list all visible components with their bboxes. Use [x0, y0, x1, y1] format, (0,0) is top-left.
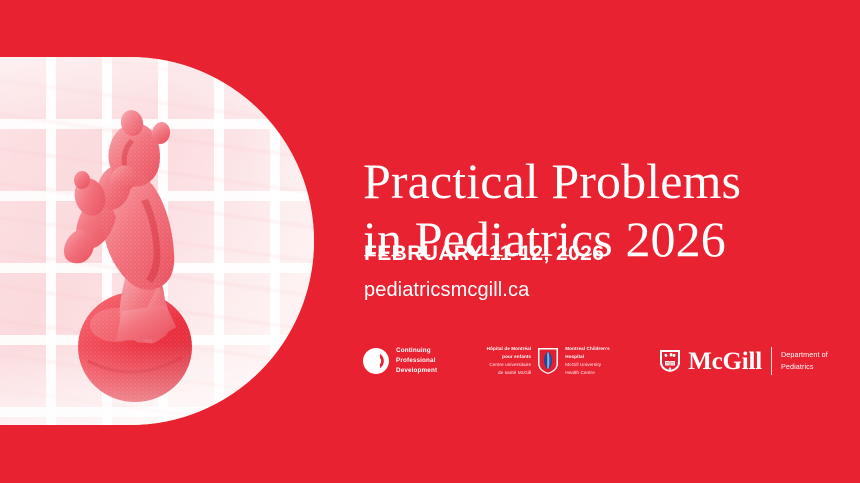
event-website-url[interactable]: pediatricsmcgill.ca	[364, 279, 529, 302]
headline-line-1: Practical Problems	[363, 152, 803, 210]
hospital-fr-name-1: Hôpital de Montréal	[479, 345, 531, 353]
cpd-circle-c-icon	[363, 348, 389, 374]
sponsor-logo-strip: Continuing Professional Development Hôpi…	[363, 338, 828, 384]
mcgill-divider	[771, 347, 772, 375]
artwork-vignette	[0, 57, 314, 425]
mch-shield-icon	[537, 347, 559, 375]
hospital-wordmark-english: Montreal Children's Hospital McGill Univ…	[565, 345, 623, 376]
cpd-line-1: Continuing	[396, 346, 437, 356]
logo-mcgill-department-of-pediatrics[interactable]: McGill Department of Pediatrics	[659, 347, 828, 375]
artwork-panel	[0, 57, 314, 425]
cpd-wordmark: Continuing Professional Development	[396, 346, 437, 375]
mcgill-department-label: Department of Pediatrics	[781, 349, 828, 372]
hospital-en-sub-1: McGill University	[565, 361, 623, 369]
event-date: FEBRUARY 11-12, 2026	[364, 242, 604, 266]
hospital-en-name-1: Montreal Children's	[565, 345, 623, 353]
hospital-en-sub-2: Health Centre	[565, 369, 623, 377]
cpd-line-3: Development	[396, 366, 437, 376]
hospital-wordmark-french: Hôpital de Montréal pour enfants Centre …	[479, 345, 531, 376]
hospital-fr-sub-2: de santé McGill	[479, 369, 531, 377]
logo-continuing-professional-development[interactable]: Continuing Professional Development	[363, 346, 437, 375]
mcgill-wordmark: McGill	[688, 349, 762, 374]
mcgill-dept-line-1: Department of	[781, 349, 828, 361]
hospital-en-name-2: Hospital	[565, 353, 623, 361]
logo-montreal-childrens-hospital[interactable]: Hôpital de Montréal pour enfants Centre …	[479, 345, 623, 376]
mcgill-shield-crest-icon	[659, 349, 681, 373]
hospital-fr-name-2: pour enfants	[479, 353, 531, 361]
mcgill-dept-line-2: Pediatrics	[781, 361, 828, 373]
event-poster: Practical Problems in Pediatrics 2026 FE…	[0, 0, 860, 483]
cpd-line-2: Professional	[396, 356, 437, 366]
hospital-fr-sub-1: Centre universitaire	[479, 361, 531, 369]
